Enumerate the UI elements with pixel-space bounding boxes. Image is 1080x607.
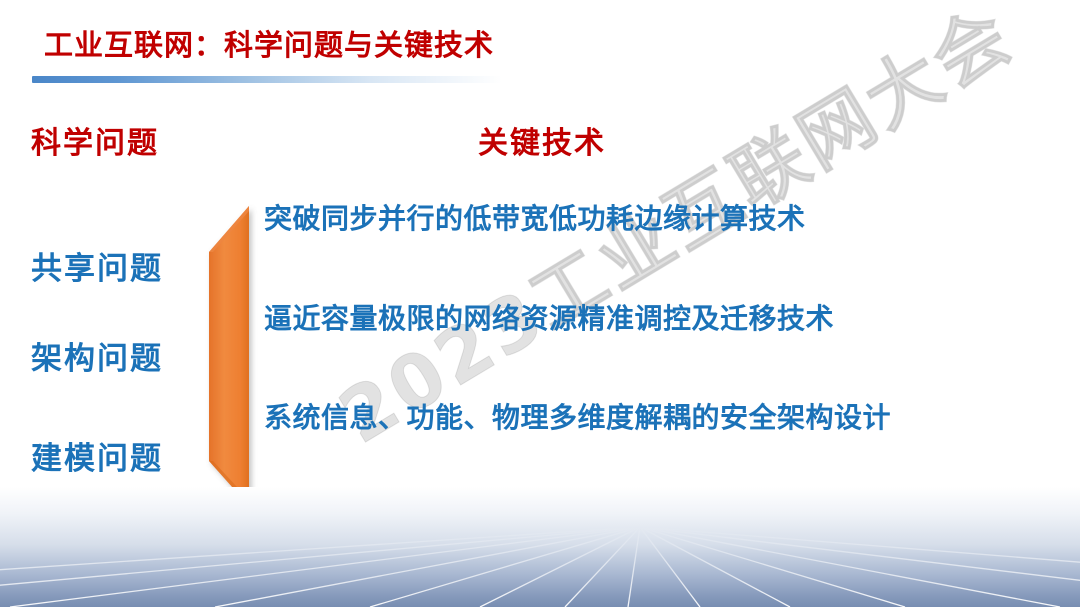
key-technology-item: 突破同步并行的低带宽低功耗边缘计算技术 xyxy=(264,197,806,237)
orange-chevron-arrow-icon xyxy=(198,195,268,520)
column-header-science-problems: 科学问题 xyxy=(31,118,159,162)
slide-canvas: 2023工业互联网大会 工业互联网：科学问题与关键技术 科学问题 关键技术 共享… xyxy=(0,0,1080,607)
floor-grid-lines xyxy=(0,487,1080,607)
key-technology-item: 系统信息、功能、物理多维度解耦的安全架构设计 xyxy=(264,396,891,436)
perspective-floor-decoration xyxy=(0,487,1080,607)
science-problem-item: 建模问题 xyxy=(31,433,163,478)
science-problem-item: 架构问题 xyxy=(31,333,163,378)
title-underline-rule xyxy=(32,76,502,83)
column-header-key-technologies: 关键技术 xyxy=(478,118,606,162)
page-title: 工业互联网：科学问题与关键技术 xyxy=(44,22,494,64)
key-technology-item: 逼近容量极限的网络资源精准调控及迁移技术 xyxy=(264,297,834,337)
science-problem-item: 共享问题 xyxy=(31,243,163,288)
chevron-shape-svg xyxy=(198,195,268,520)
